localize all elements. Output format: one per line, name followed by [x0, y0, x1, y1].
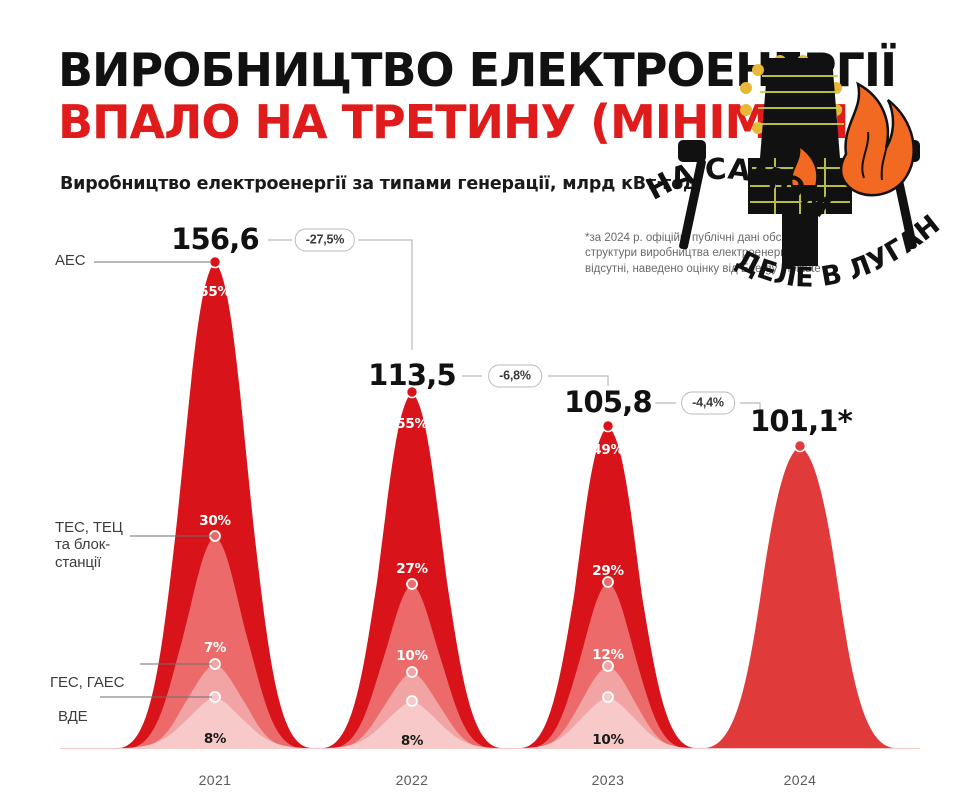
marker-dot-ges-2022	[407, 667, 417, 677]
chart-subtitle: Виробництво електроенергії за типами ген…	[60, 174, 697, 194]
marker-dot-vde-2022	[407, 696, 417, 706]
axis-year-2021: 2021	[199, 772, 232, 788]
pct-vde-2021: 8%	[204, 731, 226, 747]
total-value-2023: 105,8	[564, 385, 652, 419]
pct-vde-2022: 8%	[401, 733, 423, 749]
pct-tes-2023: 29%	[592, 563, 623, 579]
pct-ges-2023: 12%	[592, 647, 623, 663]
axis-year-2023: 2023	[592, 772, 625, 788]
pct-aes-2021: 55%	[199, 284, 230, 300]
peak-group-2021	[118, 257, 312, 749]
delta-badge-2022-2023[interactable]: -6,8%	[488, 365, 542, 388]
peak-group-2023	[520, 421, 696, 749]
peak-group-2024	[704, 441, 896, 749]
delta-connector-1	[268, 240, 412, 350]
delta-badge-2021-2022[interactable]: -27,5%	[295, 229, 355, 252]
pct-ges-2022: 10%	[396, 648, 427, 664]
axis-year-2024: 2024	[784, 772, 817, 788]
headline-line-2: ВПАЛО НА ТРЕТИНУ (МІНІМУМ	[58, 100, 938, 144]
marker-dot-total-2024	[795, 441, 806, 452]
headline-line-1: ВИРОБНИЦТВО ЕЛЕКТРОЕНЕРГІЇ	[58, 48, 938, 92]
area-chart-svg	[0, 200, 957, 760]
series-label-tes-line1: ТЕС, ТЕЦ	[55, 519, 123, 536]
pct-ges-2021: 7%	[204, 640, 226, 656]
series-label-tes-line3: станції	[55, 554, 123, 571]
series-label-tes-line2: та блок-	[55, 536, 123, 553]
area-total-2024	[704, 446, 896, 748]
delta-badge-2023-2024[interactable]: -4,4%	[681, 392, 735, 415]
marker-dot-aes-2023	[603, 421, 614, 432]
series-label-tes: ТЕС, ТЕЦ та блок- станції	[55, 519, 123, 571]
total-value-2024: 101,1*	[750, 404, 852, 438]
total-value-2021: 156,6	[171, 222, 259, 256]
infographic-page: ВИРОБНИЦТВО ЕЛЕКТРОЕНЕРГІЇ ВПАЛО НА ТРЕТ…	[0, 0, 957, 800]
chart-area	[0, 200, 957, 760]
flame-icon-small	[791, 146, 817, 186]
axis-year-2022: 2022	[396, 772, 429, 788]
total-value-2022: 113,5	[368, 358, 456, 392]
series-label-ges: ГЕС, ГАЕС	[50, 674, 124, 691]
pct-aes-2022: 55%	[396, 416, 427, 432]
pct-vde-2023: 10%	[592, 732, 623, 748]
marker-dot-tes-2022	[407, 579, 417, 589]
pct-tes-2021: 30%	[199, 513, 230, 529]
series-label-aes: АЕС	[55, 252, 86, 269]
pct-aes-2023: 49%	[592, 442, 623, 458]
page-title: ВИРОБНИЦТВО ЕЛЕКТРОЕНЕРГІЇ ВПАЛО НА ТРЕТ…	[58, 48, 938, 144]
pct-tes-2022: 27%	[396, 561, 427, 577]
series-label-vde: ВДЕ	[58, 708, 88, 725]
marker-dot-vde-2023	[603, 692, 613, 702]
